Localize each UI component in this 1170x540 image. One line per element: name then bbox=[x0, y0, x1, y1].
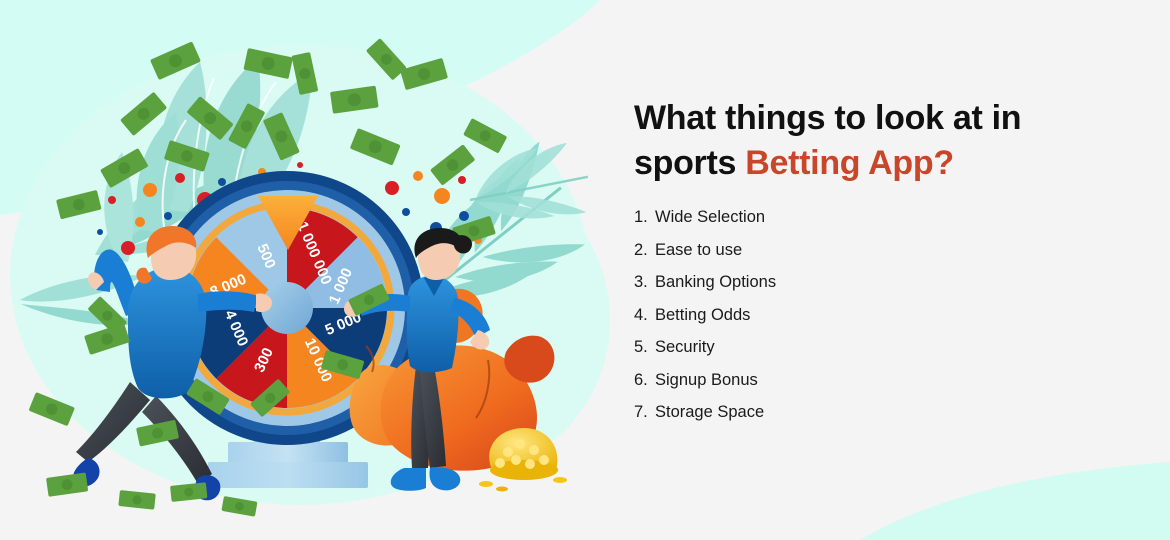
list-item: 5. Security bbox=[634, 339, 1104, 356]
page-title: What things to look at in sports Betting… bbox=[634, 96, 1104, 186]
money-bag-ear-right bbox=[504, 336, 554, 383]
list-item-label: Wide Selection bbox=[655, 209, 1104, 226]
list-item-number: 6. bbox=[634, 372, 655, 389]
list-item-number: 5. bbox=[634, 339, 655, 356]
headline-line-1: What things to look at in bbox=[634, 99, 1021, 137]
list-item-label: Storage Space bbox=[655, 404, 1104, 421]
list-item-label: Security bbox=[655, 339, 1104, 356]
headline-accent: Betting App? bbox=[745, 144, 954, 182]
list-item-label: Ease to use bbox=[655, 242, 1104, 259]
list-item: 1. Wide Selection bbox=[634, 209, 1104, 226]
feature-list: 1. Wide Selection 2. Ease to use 3. Bank… bbox=[634, 209, 1104, 421]
list-item-number: 3. bbox=[634, 274, 655, 291]
man-shoe-right bbox=[430, 467, 461, 490]
woman-leg-back bbox=[76, 382, 150, 462]
headline-line-2-plain: sports bbox=[634, 144, 745, 182]
list-item: 4. Betting Odds bbox=[634, 307, 1104, 324]
list-item-label: Signup Bonus bbox=[655, 372, 1104, 389]
list-item-label: Banking Options bbox=[655, 274, 1104, 291]
content-column: What things to look at in sports Betting… bbox=[634, 96, 1104, 437]
prize-wheel-illustration: 1 000 000 1 000 5 000 10 000 300 4 000 8… bbox=[0, 0, 620, 540]
banner-root: 1 000 000 1 000 5 000 10 000 300 4 000 8… bbox=[0, 0, 1170, 540]
list-item-number: 1. bbox=[634, 209, 655, 226]
list-item: 7. Storage Space bbox=[634, 404, 1104, 421]
list-item-number: 4. bbox=[634, 307, 655, 324]
list-item: 2. Ease to use bbox=[634, 242, 1104, 259]
list-item-number: 7. bbox=[634, 404, 655, 421]
list-item: 6. Signup Bonus bbox=[634, 372, 1104, 389]
woman-front-arm bbox=[198, 291, 258, 312]
list-item: 3. Banking Options bbox=[634, 274, 1104, 291]
list-item-number: 2. bbox=[634, 242, 655, 259]
man-shoe-left bbox=[391, 468, 426, 491]
list-item-label: Betting Odds bbox=[655, 307, 1104, 324]
